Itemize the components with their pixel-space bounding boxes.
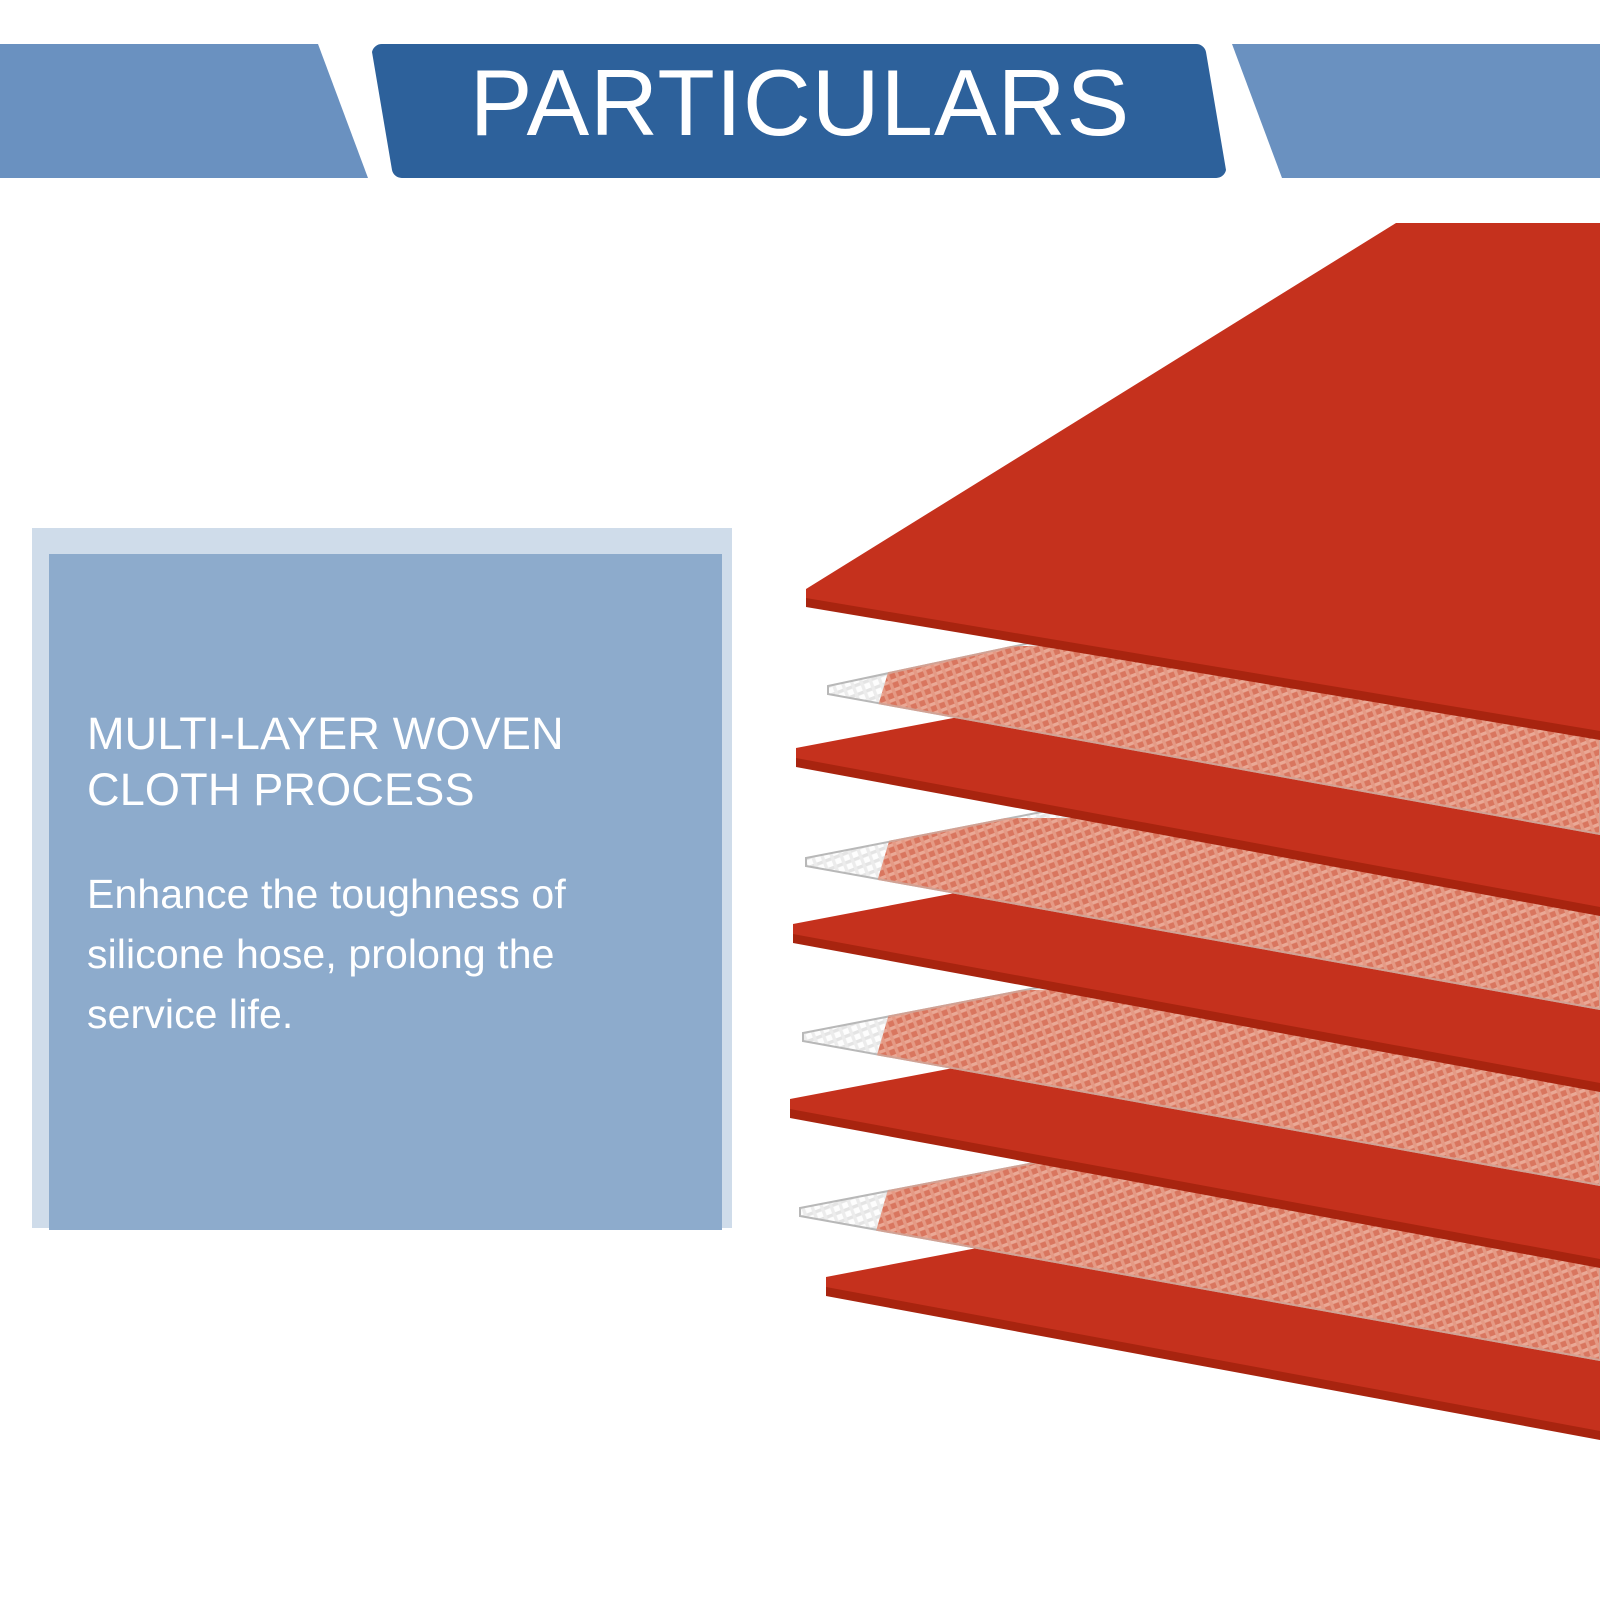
info-card-content: MULTI-LAYER WOVEN CLOTH PROCESS Enhance …: [87, 706, 684, 1044]
woven-cloth-3: [803, 957, 1600, 1185]
header-banner: PARTICULARS: [0, 0, 1600, 200]
banner-left-band: [0, 44, 368, 178]
info-card: MULTI-LAYER WOVEN CLOTH PROCESS Enhance …: [32, 528, 744, 1240]
banner-right-band: [1232, 44, 1600, 178]
info-card-body: Enhance the toughness of silicone hose, …: [87, 864, 684, 1044]
silicone-sheet-4: [826, 1203, 1600, 1440]
silicone-sheet-2: [793, 847, 1600, 1092]
silicone-sheet-1b: [796, 671, 1600, 916]
woven-cloth-2: [806, 781, 1600, 1009]
silicone-sheet-3: [790, 1023, 1600, 1268]
header-banner-shapes: [0, 0, 1600, 200]
banner-center-band: [372, 44, 1226, 178]
info-card-panel: MULTI-LAYER WOVEN CLOTH PROCESS Enhance …: [49, 554, 722, 1230]
silicone-sheet-1: [806, 223, 1600, 740]
woven-cloth-1: [828, 606, 1600, 834]
woven-cloth-4: [800, 1133, 1600, 1360]
info-card-heading: MULTI-LAYER WOVEN CLOTH PROCESS: [87, 706, 684, 818]
